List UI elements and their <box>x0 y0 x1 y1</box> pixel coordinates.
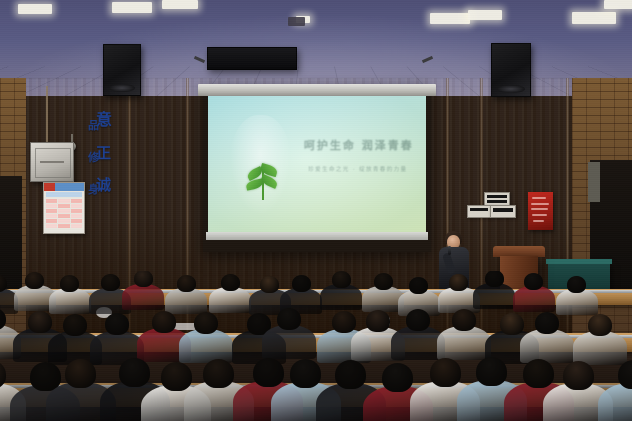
audience-person-head <box>332 311 356 333</box>
audience-person-head <box>65 359 96 388</box>
audience-person-head <box>101 274 120 291</box>
ceiling-light-3-icon <box>162 0 198 9</box>
audience-person-head <box>476 357 507 386</box>
poster-table-cell <box>58 219 69 223</box>
audience-person-head <box>523 359 554 388</box>
audience-person-head <box>253 358 284 387</box>
poster-table-cell <box>46 199 57 203</box>
av-wall-control-plate[interactable] <box>467 205 491 218</box>
ceiling-light-1-icon <box>18 4 52 14</box>
plate-slot <box>470 208 488 211</box>
audience-person-head <box>567 276 586 293</box>
audience-person-head <box>409 277 428 294</box>
audience-person-head <box>335 360 366 389</box>
poster-table-cell <box>71 224 82 228</box>
presentation-slide: 呵护生命 润泽青春 珍爱生命之光 · 绽放青春的力量 <box>208 96 426 234</box>
audience-person-shoulders <box>473 283 515 309</box>
poster-table-row <box>46 219 82 223</box>
poster-table-row <box>46 199 82 203</box>
audience-person-shoulders <box>437 326 491 360</box>
audience-person-head <box>332 271 351 288</box>
lecture-hall-photo: 意 正 诚 品 修 身 <box>0 0 632 421</box>
sign-text-line <box>531 203 549 205</box>
audience-person-head <box>177 275 196 292</box>
sprout-graphic <box>245 157 280 204</box>
poster-table-cell <box>71 204 82 208</box>
audience-person-head <box>134 271 153 287</box>
plate-slot <box>487 195 507 198</box>
poster-subheader-band <box>46 192 82 197</box>
audience-person-shoulders <box>262 325 316 359</box>
poster-table-cell <box>46 219 57 223</box>
projection-screen-surface: 呵护生命 润泽青春 珍爱生命之光 · 绽放青春的力量 <box>208 96 426 234</box>
sign-text-line <box>532 214 547 216</box>
poster-table-cell <box>58 204 69 208</box>
right-window-frame <box>588 162 600 202</box>
poster-table-row <box>46 209 82 213</box>
audience-person-shoulders <box>209 287 251 313</box>
projection-screen-case <box>198 84 436 96</box>
audience-person-shoulders <box>122 284 164 310</box>
audience-person-head <box>161 362 192 391</box>
poster-table-cell <box>46 209 57 213</box>
audience-person-head <box>260 276 279 293</box>
slide-title: 呵护生命 润泽青春 <box>304 137 422 153</box>
audience-person-head <box>194 312 218 334</box>
audience-person-head <box>524 273 543 290</box>
poster-table-cell <box>71 199 82 203</box>
audience-person-head <box>25 272 44 289</box>
audience-person-head <box>292 275 311 292</box>
sign-text-line <box>532 197 546 199</box>
poster-table-cell <box>46 214 57 218</box>
slide-subtitle: 珍爱生命之光 · 绽放青春的力量 <box>308 165 421 173</box>
audience-person-shoulders <box>520 329 574 363</box>
projection-screen-weight-bar <box>206 232 428 240</box>
audience-person-shoulders <box>513 286 555 312</box>
poster-table-cell <box>58 224 69 228</box>
audience-person-head <box>588 314 612 336</box>
poster-table-cell <box>71 214 82 218</box>
wall-speaker-left <box>103 44 141 96</box>
calligraphy-char: 身 <box>88 184 99 195</box>
audience-area <box>0 271 632 421</box>
red-notice-poster <box>528 192 553 230</box>
audience-person-head <box>290 359 321 388</box>
av-wall-control-plate[interactable] <box>490 205 516 218</box>
poster-table-cell <box>46 204 57 208</box>
audience-person-shoulders <box>179 329 233 363</box>
audience-person-head <box>105 313 129 335</box>
audience-person-head <box>374 273 393 290</box>
audience-person-head <box>152 311 176 333</box>
poster-table-row <box>46 204 82 208</box>
audience-person-head <box>221 274 240 291</box>
poster-table-cell <box>71 209 82 213</box>
audience-person-head <box>500 313 524 335</box>
poster-table-row <box>46 214 82 218</box>
audience-person-head <box>535 312 559 334</box>
handheld-microphone <box>448 246 451 255</box>
ceiling-light-5-icon <box>430 13 470 24</box>
wall-conduit <box>46 86 48 144</box>
ceiling-light-7-icon <box>572 12 616 24</box>
audience-person-head <box>366 310 390 332</box>
audience-person-head <box>406 309 430 331</box>
teal-table-top <box>546 259 612 264</box>
poster-header-band <box>44 183 84 191</box>
audience-person-shoulders <box>320 284 362 310</box>
audience-person-shoulders <box>165 288 207 314</box>
ceiling-light-8-icon <box>604 0 632 9</box>
poster-table-row <box>46 224 82 228</box>
audience-person-head <box>203 359 234 388</box>
poster-table-cell <box>46 224 57 228</box>
audience-person-head <box>28 311 52 333</box>
audience-person-head <box>60 275 79 292</box>
calligraphy-char: 品 <box>88 120 99 131</box>
audience-person-shoulders <box>573 331 627 365</box>
audience-person-head <box>382 363 413 392</box>
av-wall-control-plate[interactable] <box>484 192 510 206</box>
audience-person-shoulders <box>49 288 91 314</box>
poster-table-cell <box>58 209 69 213</box>
audience-person-shoulders <box>556 289 598 315</box>
poster-table-cell <box>71 219 82 223</box>
ceiling-air-vent <box>288 17 305 26</box>
plate-slot <box>493 208 513 212</box>
poster-table-cell <box>58 199 69 203</box>
ceiling-light-6-icon <box>468 10 502 20</box>
plate-slot <box>487 200 507 203</box>
wall-utility-cabinet <box>30 142 74 182</box>
sign-text-line <box>531 208 548 210</box>
audience-person-head <box>277 308 301 330</box>
audience-person-head <box>485 271 504 287</box>
led-banner-display <box>207 47 297 70</box>
sign-text-line <box>533 220 544 222</box>
audience-person-head <box>430 358 461 387</box>
audience-person-head <box>452 309 476 331</box>
poster-table-cell <box>58 214 69 218</box>
ceiling-light-2-icon <box>112 2 152 13</box>
audience-person-head <box>63 314 87 336</box>
audience-person-head <box>563 361 594 390</box>
wall-speaker-right <box>491 43 531 97</box>
calligraphy-char: 修 <box>88 152 99 163</box>
schedule-poster <box>43 182 85 234</box>
poster-table <box>44 198 84 229</box>
audience-person-head <box>449 274 468 291</box>
audience-person-head <box>119 358 150 387</box>
